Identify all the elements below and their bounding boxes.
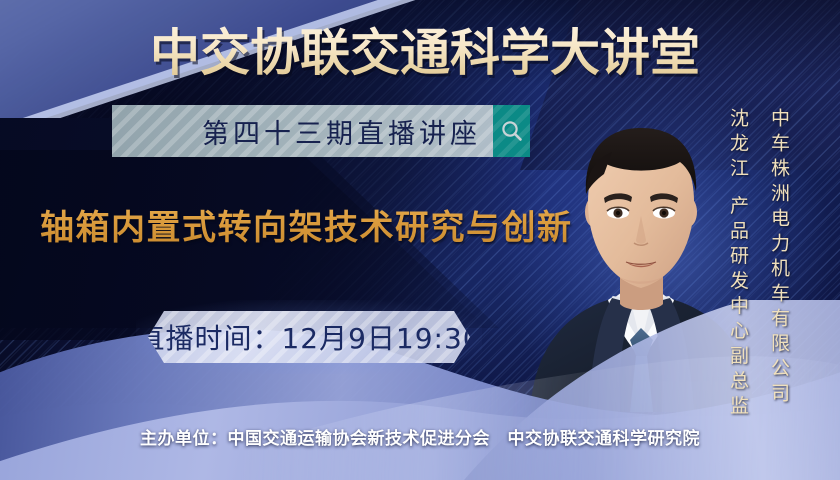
session-label: 第四十三期直播讲座	[124, 112, 481, 151]
live-stream-poster: 中交协联交通科学大讲堂 第四十三期直播讲座 轴箱内置式转向架技术研究与创新 直播…	[0, 0, 840, 480]
search-button[interactable]	[493, 105, 530, 157]
organizer-footer: 主办单位：中国交通运输协会新技术促进分会 中交协联交通科学研究院	[0, 424, 840, 449]
schedule-badge: 直播时间：12月9日19:30	[148, 311, 470, 363]
page-title-text: 中交协联交通科学大讲堂	[150, 28, 700, 78]
topic-title: 轴箱内置式转向架技术研究与创新	[40, 200, 573, 249]
speaker-company: 中车株洲电力机车有限公司	[766, 108, 793, 408]
speaker-name-title: 沈龙江 产品研发中心副总监	[725, 108, 752, 420]
schedule-label: 直播时间：12月9日19:30	[148, 317, 470, 357]
search-icon	[500, 119, 524, 143]
page-title: 中交协联交通科学大讲堂	[150, 18, 698, 88]
session-bar: 第四十三期直播讲座	[112, 105, 530, 157]
session-bar-fill: 第四十三期直播讲座	[112, 105, 493, 157]
